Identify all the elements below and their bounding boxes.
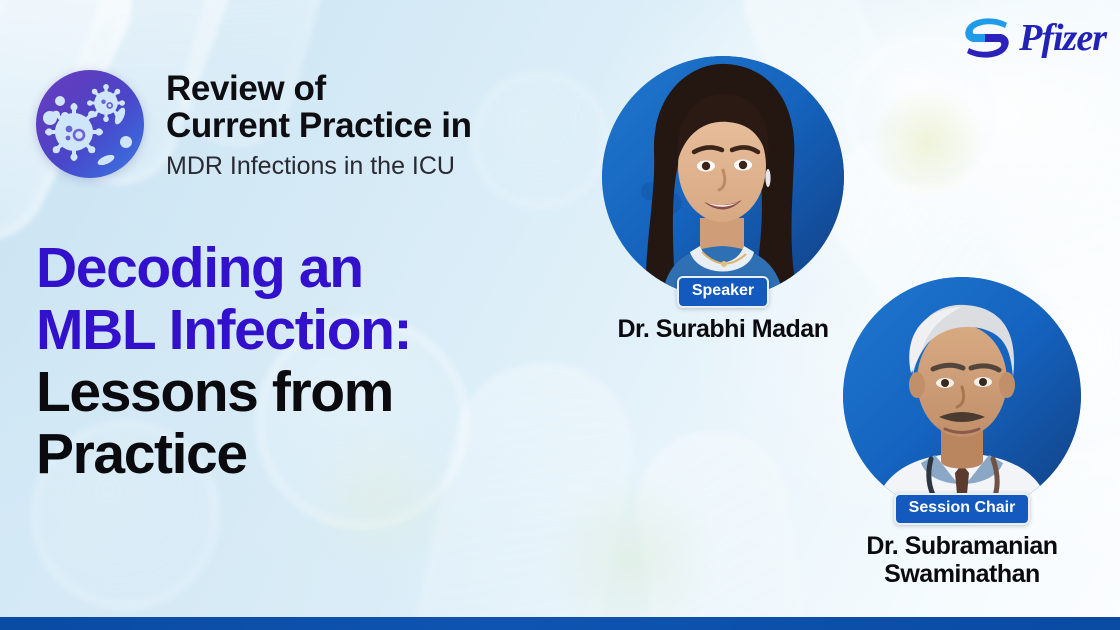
title-plain-line-1: Lessons from	[36, 361, 411, 423]
speaker-badge-wrap: Speaker	[602, 276, 844, 308]
bottom-accent-bar	[0, 617, 1120, 630]
portrait-speaker	[602, 56, 844, 298]
speaker-card: Speaker Dr. Surabhi Madan	[602, 56, 844, 343]
cell-shape	[470, 70, 610, 210]
session-chair-card: Session Chair Dr. Subramanian Swaminatha…	[843, 277, 1081, 588]
pfizer-swirl-icon	[961, 14, 1013, 62]
session-chair-name-line-2: Swaminathan	[843, 560, 1081, 588]
session-chair-name: Dr. Subramanian Swaminathan	[843, 532, 1081, 588]
portrait-session-chair	[843, 277, 1081, 515]
pfizer-logo: Pfizer	[961, 14, 1106, 62]
speaker-name: Dr. Surabhi Madan	[602, 315, 844, 343]
title-plain-line-2: Practice	[36, 423, 411, 485]
session-chair-badge-wrap: Session Chair	[843, 493, 1081, 525]
program-header: Review of Current Practice in MDR Infect…	[36, 70, 472, 181]
status-badge-session-chair: Session Chair	[894, 493, 1031, 525]
session-chair-photo	[843, 277, 1081, 515]
session-chair-name-line-1: Dr. Subramanian	[843, 532, 1081, 560]
microbe-glyphs	[36, 70, 144, 178]
title-accent-line-2: MBL Infection:	[36, 299, 411, 361]
title-accent-line-1: Decoding an	[36, 237, 411, 299]
speaker-photo	[602, 56, 844, 298]
webinar-title-card: Pfizer	[0, 0, 1120, 630]
page-title: Decoding an MBL Infection: Lessons from …	[36, 237, 411, 486]
pfizer-wordmark: Pfizer	[1019, 19, 1106, 57]
program-title-line-1: Review of	[166, 70, 472, 107]
program-title-block: Review of Current Practice in MDR Infect…	[166, 70, 472, 181]
program-title-line-2: Current Practice in	[166, 107, 472, 144]
bokeh-highlight	[870, 85, 985, 200]
microbe-circle-icon	[36, 70, 144, 178]
status-badge-speaker: Speaker	[677, 276, 769, 308]
program-subtitle: MDR Infections in the ICU	[166, 153, 472, 181]
